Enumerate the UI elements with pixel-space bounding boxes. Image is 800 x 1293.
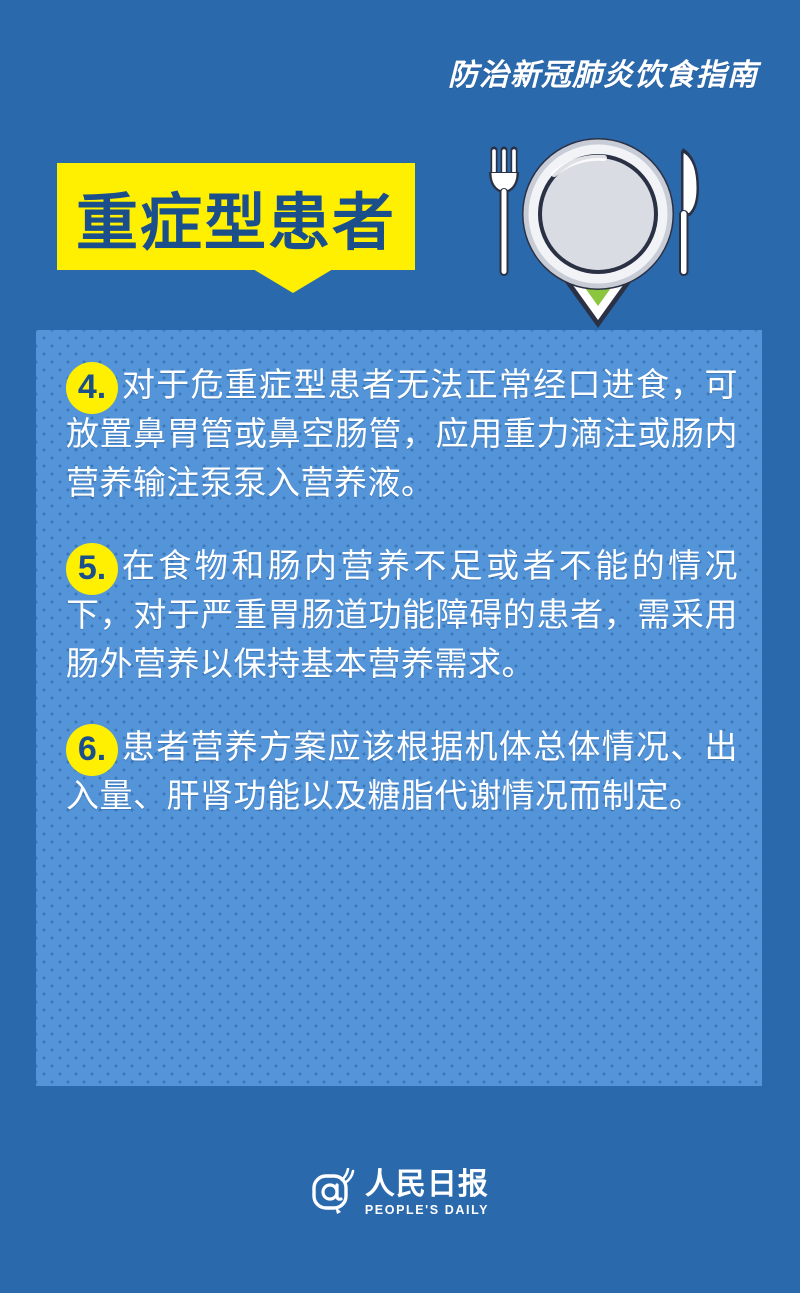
item-number-badge: 6. [66, 724, 118, 776]
item-number-badge: 4. [66, 362, 118, 414]
poster-root: 防治新冠肺炎饮食指南 重症型患者 [0, 0, 800, 1293]
logo-english-name: PEOPLE'S DAILY [365, 1204, 489, 1217]
page-header-title: 防治新冠肺炎饮食指南 [448, 50, 758, 94]
item-body-text: 在食物和肠内营养不足或者不能的情况下，对于严重胃肠道功能障碍的患者，需采用肠外营… [66, 541, 738, 688]
plate-icon [522, 138, 674, 290]
item-number-badge: 5. [66, 543, 118, 595]
list-item: 5. 在食物和肠内营养不足或者不能的情况下，对于严重胃肠道功能障碍的患者，需采用… [66, 541, 738, 688]
title-banner-tail-icon [253, 269, 333, 293]
fork-icon [489, 150, 519, 276]
list-item: 6. 患者营养方案应该根据机体总体情况、出入量、肝肾功能以及糖脂代谢情况而制定。 [66, 722, 738, 820]
footer: 人民日报 PEOPLE'S DAILY [0, 1168, 800, 1218]
title-banner: 重症型患者 [57, 163, 415, 270]
list-item: 4. 对于危重症型患者无法正常经口进食，可放置鼻胃管或鼻空肠管，应用重力滴注或肠… [66, 360, 738, 507]
guideline-list: 4. 对于危重症型患者无法正常经口进食，可放置鼻胃管或鼻空肠管，应用重力滴注或肠… [66, 360, 738, 820]
title-banner-label: 重症型患者 [57, 163, 415, 270]
item-body-text: 对于危重症型患者无法正常经口进食，可放置鼻胃管或鼻空肠管，应用重力滴注或肠内营养… [66, 360, 738, 507]
plate-fork-knife-icon [476, 132, 720, 332]
peoples-daily-logo: 人民日报 PEOPLE'S DAILY [311, 1168, 489, 1218]
item-body-text: 患者营养方案应该根据机体总体情况、出入量、肝肾功能以及糖脂代谢情况而制定。 [66, 722, 738, 820]
knife-icon [679, 148, 699, 276]
logo-wordmark: 人民日报 PEOPLE'S DAILY [365, 1170, 489, 1217]
content-panel: 4. 对于危重症型患者无法正常经口进食，可放置鼻胃管或鼻空肠管，应用重力滴注或肠… [36, 330, 762, 1086]
logo-chinese-name: 人民日报 [365, 1170, 489, 1200]
at-sign-signal-icon [311, 1168, 357, 1218]
